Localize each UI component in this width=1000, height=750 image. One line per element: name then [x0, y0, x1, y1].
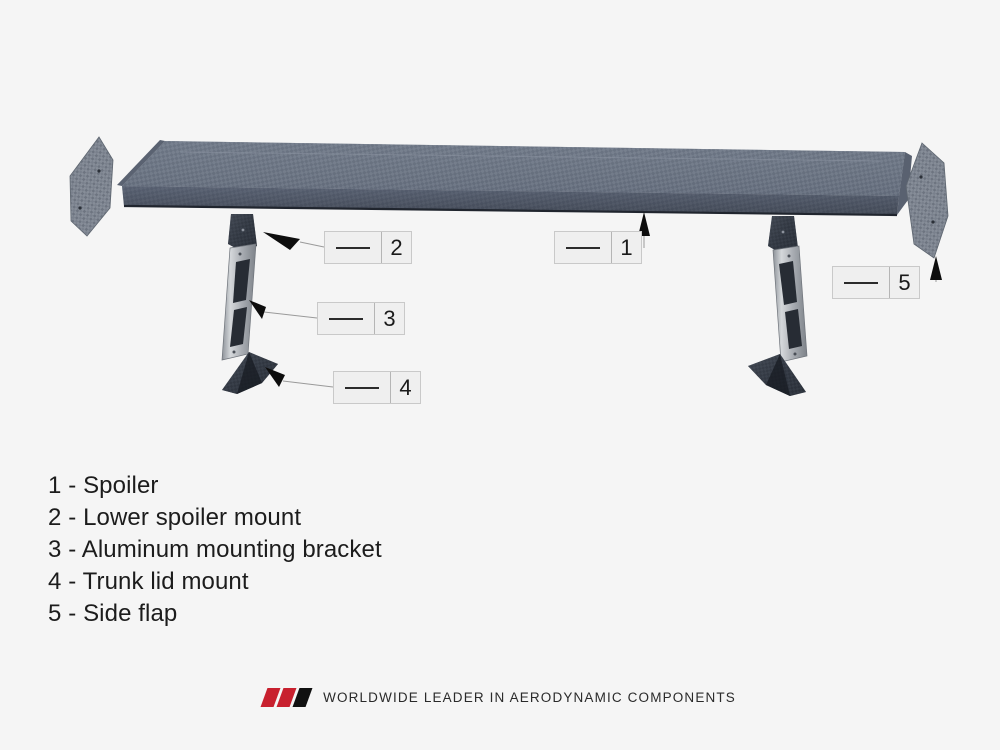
callout-dash-2 [325, 232, 382, 263]
callout-box-5[interactable]: 5 [832, 266, 920, 299]
legend-item-2: 2 - Lower spoiler mount [48, 502, 382, 534]
callout-number-2: 2 [382, 232, 411, 263]
callout-number-5: 5 [890, 267, 919, 298]
right-aluminum-bracket [773, 246, 807, 362]
callout-box-2[interactable]: 2 [324, 231, 412, 264]
callout-box-4[interactable]: 4 [333, 371, 421, 404]
callout-box-3[interactable]: 3 [317, 302, 405, 335]
logo-bar-3 [293, 688, 313, 707]
callout-number-1: 1 [612, 232, 641, 263]
brand-logo-icon [264, 688, 309, 707]
callout-box-1[interactable]: 1 [554, 231, 642, 264]
right-side-flap [906, 143, 948, 258]
arrow-2 [263, 232, 300, 250]
legend-item-1: 1 - Spoiler [48, 470, 382, 502]
legend-item-3: 3 - Aluminum mounting bracket [48, 534, 382, 566]
left-mount-assembly [222, 214, 278, 394]
footer-tagline: WORLDWIDE LEADER IN AERODYNAMIC COMPONEN… [323, 690, 736, 705]
diagram-stage: 1 2 3 4 5 1 - Spoiler 2 - Lower spoiler … [0, 0, 1000, 750]
left-side-flap [70, 137, 113, 236]
arrow-4 [265, 367, 285, 387]
callout-dash-3 [318, 303, 375, 334]
callout-dash-5 [833, 267, 890, 298]
right-mount-assembly [748, 216, 807, 396]
spoiler-illustration [0, 0, 1000, 470]
callout-dash-1 [555, 232, 612, 263]
legend-list: 1 - Spoiler 2 - Lower spoiler mount 3 - … [48, 470, 382, 630]
callout-number-3: 3 [375, 303, 404, 334]
arrow-5 [930, 256, 942, 280]
right-trunk-lid-mount [748, 354, 806, 396]
footer-branding: WORLDWIDE LEADER IN AERODYNAMIC COMPONEN… [0, 688, 1000, 707]
callout-dash-4 [334, 372, 391, 403]
spoiler-wing [117, 140, 912, 215]
legend-item-4: 4 - Trunk lid mount [48, 566, 382, 598]
callout-number-4: 4 [391, 372, 420, 403]
legend-item-5: 5 - Side flap [48, 598, 382, 630]
